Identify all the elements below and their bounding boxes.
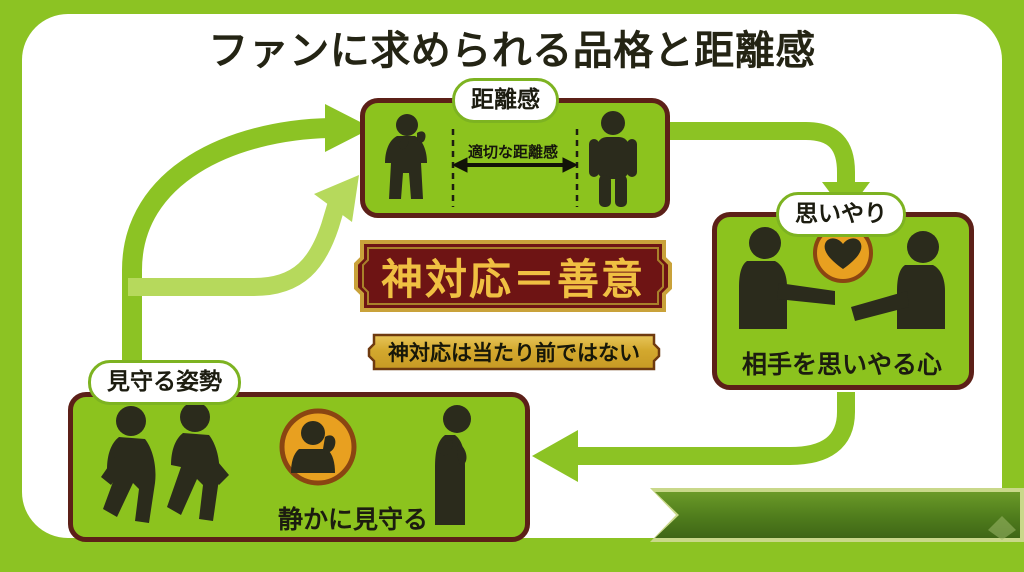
- infographic-canvas: ファンに求められる品格と距離感: [0, 0, 1024, 572]
- arrow-kindness-to-watching: [532, 392, 846, 482]
- quiet-person-circle-icon: [282, 411, 354, 483]
- ribbon-banner: ファンとしての品格: [650, 488, 1024, 542]
- caption-watching: 静かに見守る: [278, 500, 428, 536]
- two-walking-figures-icon: [101, 402, 229, 523]
- badge-kindness: 思いやり: [776, 192, 906, 237]
- page-title: ファンに求められる品格と距離感: [0, 18, 1024, 76]
- caption-kindness: 相手を思いやる心: [742, 345, 942, 381]
- badge-distance: 距離感: [452, 78, 559, 123]
- arrow-watching-to-distance: [132, 104, 372, 400]
- woman-figure-icon: [385, 114, 427, 199]
- standing-observer-icon: [435, 405, 471, 525]
- badge-watching: 見守る姿勢: [88, 360, 241, 405]
- distance-inner-label: 適切な距離感: [468, 141, 558, 162]
- plaque-sub: 神対応は当たり前ではない: [366, 332, 662, 372]
- plaque-sub-text: 神対応は当たり前ではない: [366, 332, 662, 372]
- man-figure-icon: [589, 111, 637, 207]
- plaque-main: 神対応＝善意: [352, 238, 674, 314]
- plaque-main-text: 神対応＝善意: [352, 238, 674, 314]
- ribbon-shape-icon: [650, 488, 1024, 542]
